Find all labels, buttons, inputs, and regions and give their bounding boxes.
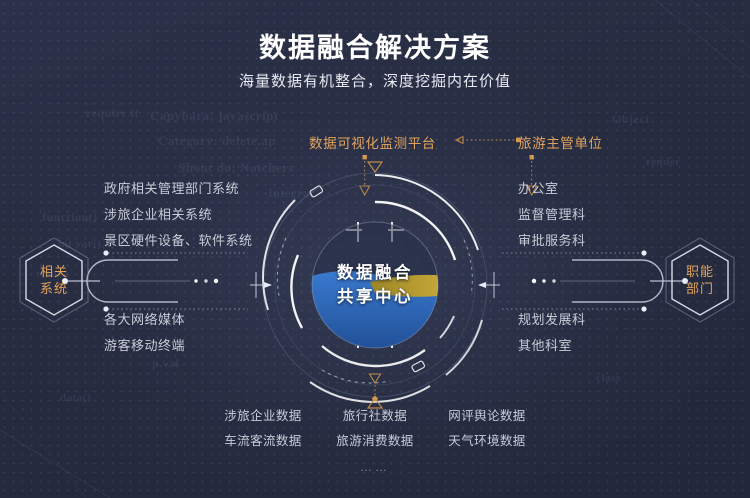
watermark-text-0: Capybara: javascript — [150, 108, 279, 124]
center-line-1: 数据融合 — [337, 261, 413, 285]
watermark-text-3: require.it — [86, 106, 139, 121]
data-grid-cell-1-2: 天气环境数据 — [431, 429, 543, 454]
page-title: 数据融合解决方案 — [0, 26, 750, 65]
related-system-item-1: 游客移动终端 — [104, 333, 185, 359]
list-related-systems-top: 政府相关管理部门系统涉旅企业相关系统景区硬件设备、软件系统 — [104, 176, 253, 254]
top-labels-connector-arrow — [440, 130, 550, 150]
list-departments-bottom: 规划发展科其他科室 — [518, 307, 586, 359]
hexagon-right-line2: 部门 — [686, 280, 714, 297]
department-item-1: 监督管理科 — [518, 202, 586, 228]
department-item-1: 其他科室 — [518, 333, 586, 359]
list-departments-top: 办公室监督管理科审批服务科 — [518, 176, 586, 254]
hexagon-right-line1: 职能 — [686, 263, 714, 280]
bottom-data-grid: 涉旅企业数据旅行社数据网评舆论数据车流客流数据旅游消费数据天气环境数据 …… — [0, 404, 750, 474]
watermark-text-1: Category: delete.ap — [158, 133, 276, 149]
data-grid-cell-1-1: 旅游消费数据 — [319, 429, 431, 454]
hexagon-left-line2: 系统 — [40, 280, 68, 297]
watermark-text-10: Object — [612, 112, 650, 127]
watermark-text-12: class — [596, 372, 621, 384]
related-system-item-0: 政府相关管理部门系统 — [104, 176, 253, 202]
hexagon-left-line1: 相关 — [40, 263, 68, 280]
center-line-2: 共享中心 — [337, 285, 413, 309]
hexagon-functional-departments: 职能 部门 — [660, 234, 740, 326]
department-item-0: 办公室 — [518, 176, 586, 202]
hexagon-related-systems: 相关 系统 — [14, 234, 94, 326]
center-hub: 数据融合 共享中心 — [250, 160, 500, 410]
related-system-item-1: 涉旅企业相关系统 — [104, 202, 253, 228]
data-grid-ellipsis: …… — [360, 460, 390, 474]
infographic-canvas: Capybara: javascriptCategory: delete.apS… — [0, 0, 750, 498]
watermark-text-9: data() — [60, 392, 91, 404]
list-related-systems-bottom: 各大网络媒体游客移动终端 — [104, 307, 185, 359]
label-visualization-platform: 数据可视化监测平台 — [309, 132, 436, 152]
watermark-text-11: render — [646, 156, 681, 168]
page-subtitle: 海量数据有机整合，深度挖掘内在价值 — [0, 70, 750, 91]
data-grid-cell-1-0: 车流客流数据 — [207, 429, 319, 454]
data-grid-row: 车流客流数据旅游消费数据天气环境数据 — [207, 429, 543, 454]
center-hub-label: 数据融合 共享中心 — [250, 160, 500, 410]
watermark-text-5: function() — [42, 210, 98, 225]
